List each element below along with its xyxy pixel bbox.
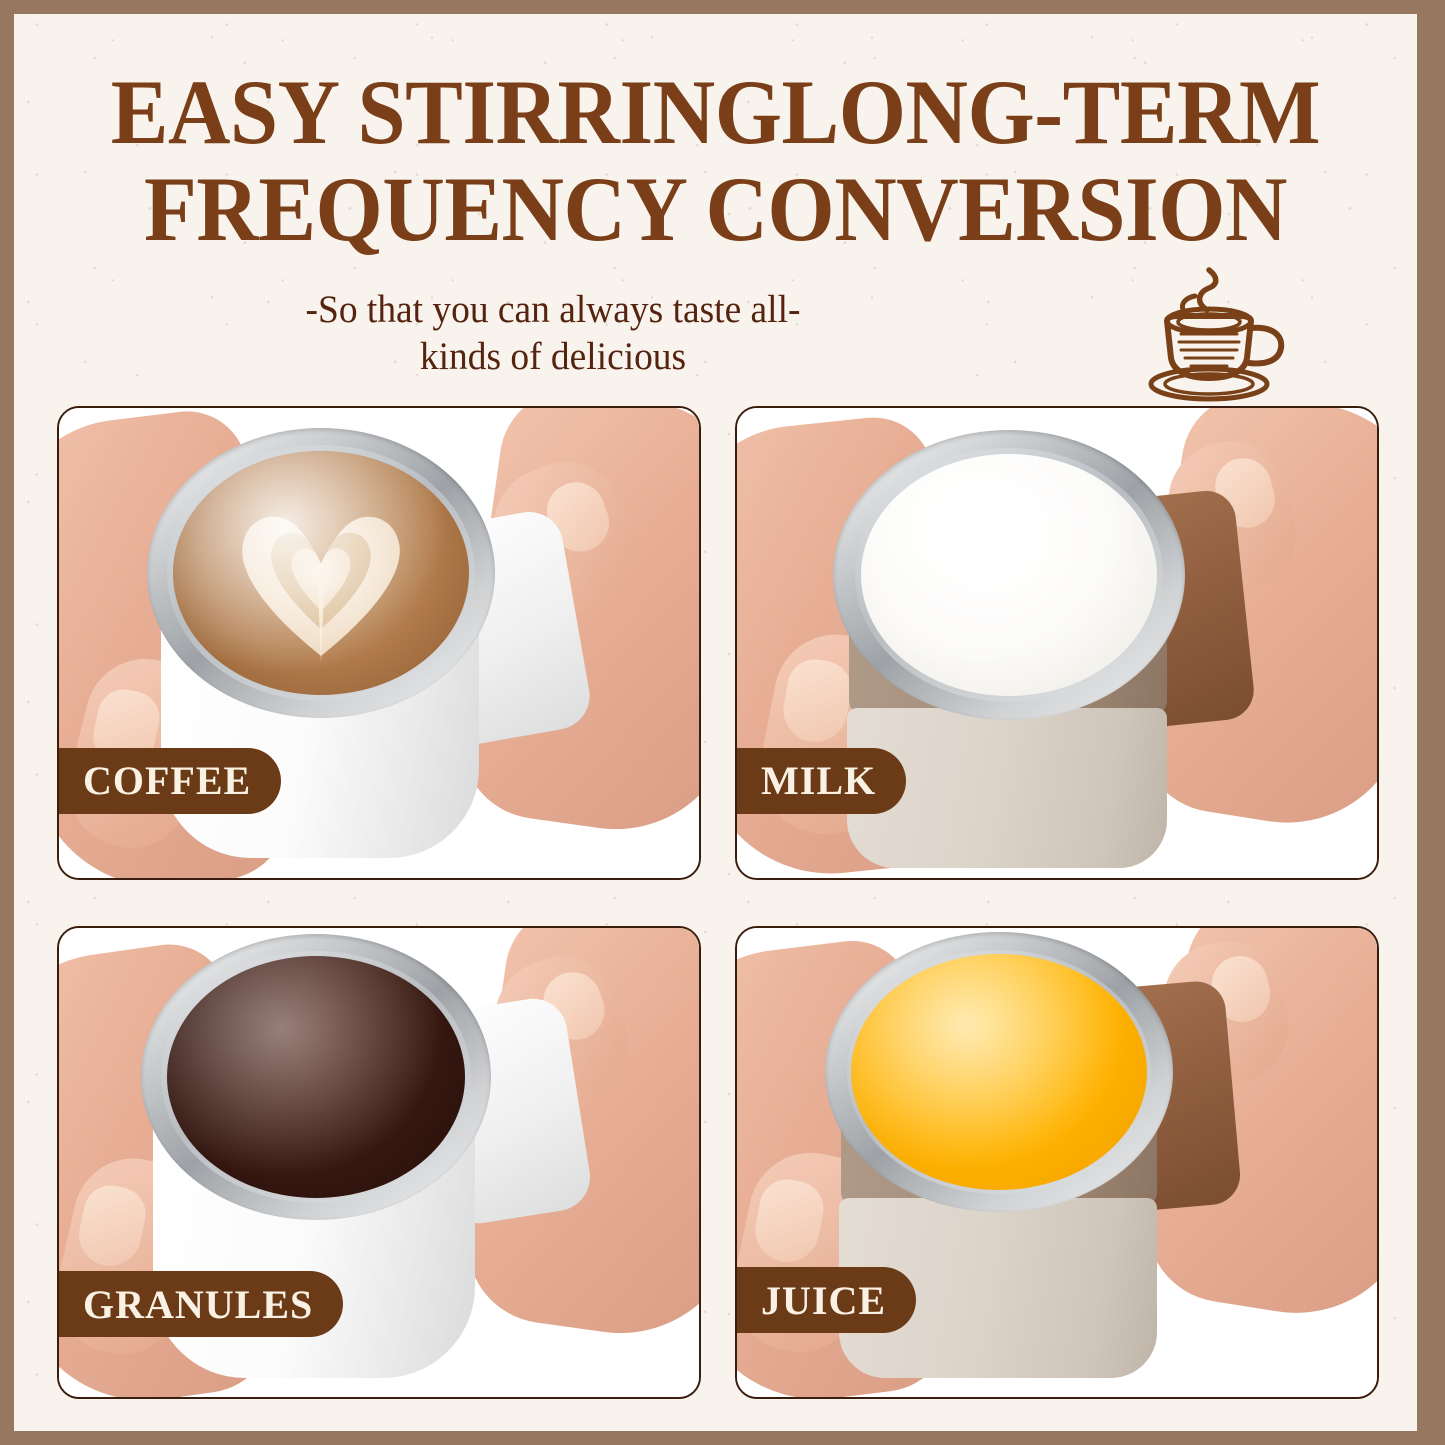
product-poster: EASY STIRRINGLONG-TERM FREQUENCY CONVERS… <box>0 0 1445 1445</box>
liquid-surface <box>173 451 469 695</box>
card-badge-granules: GRANULES <box>57 1271 343 1337</box>
badge-label: JUICE <box>761 1277 886 1324</box>
card-badge-milk: MILK <box>735 748 906 814</box>
product-photo-juice: JUICE <box>737 928 1377 1398</box>
product-photo-milk: MILK <box>737 408 1377 878</box>
poster-inner-canvas: EASY STIRRINGLONG-TERM FREQUENCY CONVERS… <box>14 14 1417 1431</box>
feature-card-milk[interactable]: MILK <box>735 406 1379 880</box>
product-photo-coffee: COFFEE <box>59 408 699 878</box>
liquid-shine <box>861 454 1157 696</box>
badge-label: COFFEE <box>83 757 251 804</box>
liquid-shine <box>851 954 1147 1190</box>
feature-card-granules[interactable]: GRANULES <box>57 926 701 1400</box>
feature-card-juice[interactable]: JUICE <box>735 926 1379 1400</box>
page-subtitle: -So that you can always taste all- kinds… <box>49 286 1057 380</box>
feature-card-coffee[interactable]: COFFEE <box>57 406 701 880</box>
product-photo-granules: GRANULES <box>59 928 699 1398</box>
liquid-shine <box>167 956 465 1198</box>
page-title: EASY STIRRINGLONG-TERM FREQUENCY CONVERS… <box>56 64 1375 258</box>
coffee-cup-icon <box>1137 266 1297 404</box>
badge-label: MILK <box>761 757 876 804</box>
latte-art-heart <box>173 451 469 695</box>
card-badge-juice: JUICE <box>735 1267 916 1333</box>
badge-label: GRANULES <box>83 1281 313 1328</box>
liquid-surface <box>861 454 1157 696</box>
liquid-surface <box>851 954 1147 1190</box>
card-badge-coffee: COFFEE <box>57 748 281 814</box>
feature-card-grid: COFFEE <box>57 406 1379 1399</box>
liquid-surface <box>167 956 465 1198</box>
